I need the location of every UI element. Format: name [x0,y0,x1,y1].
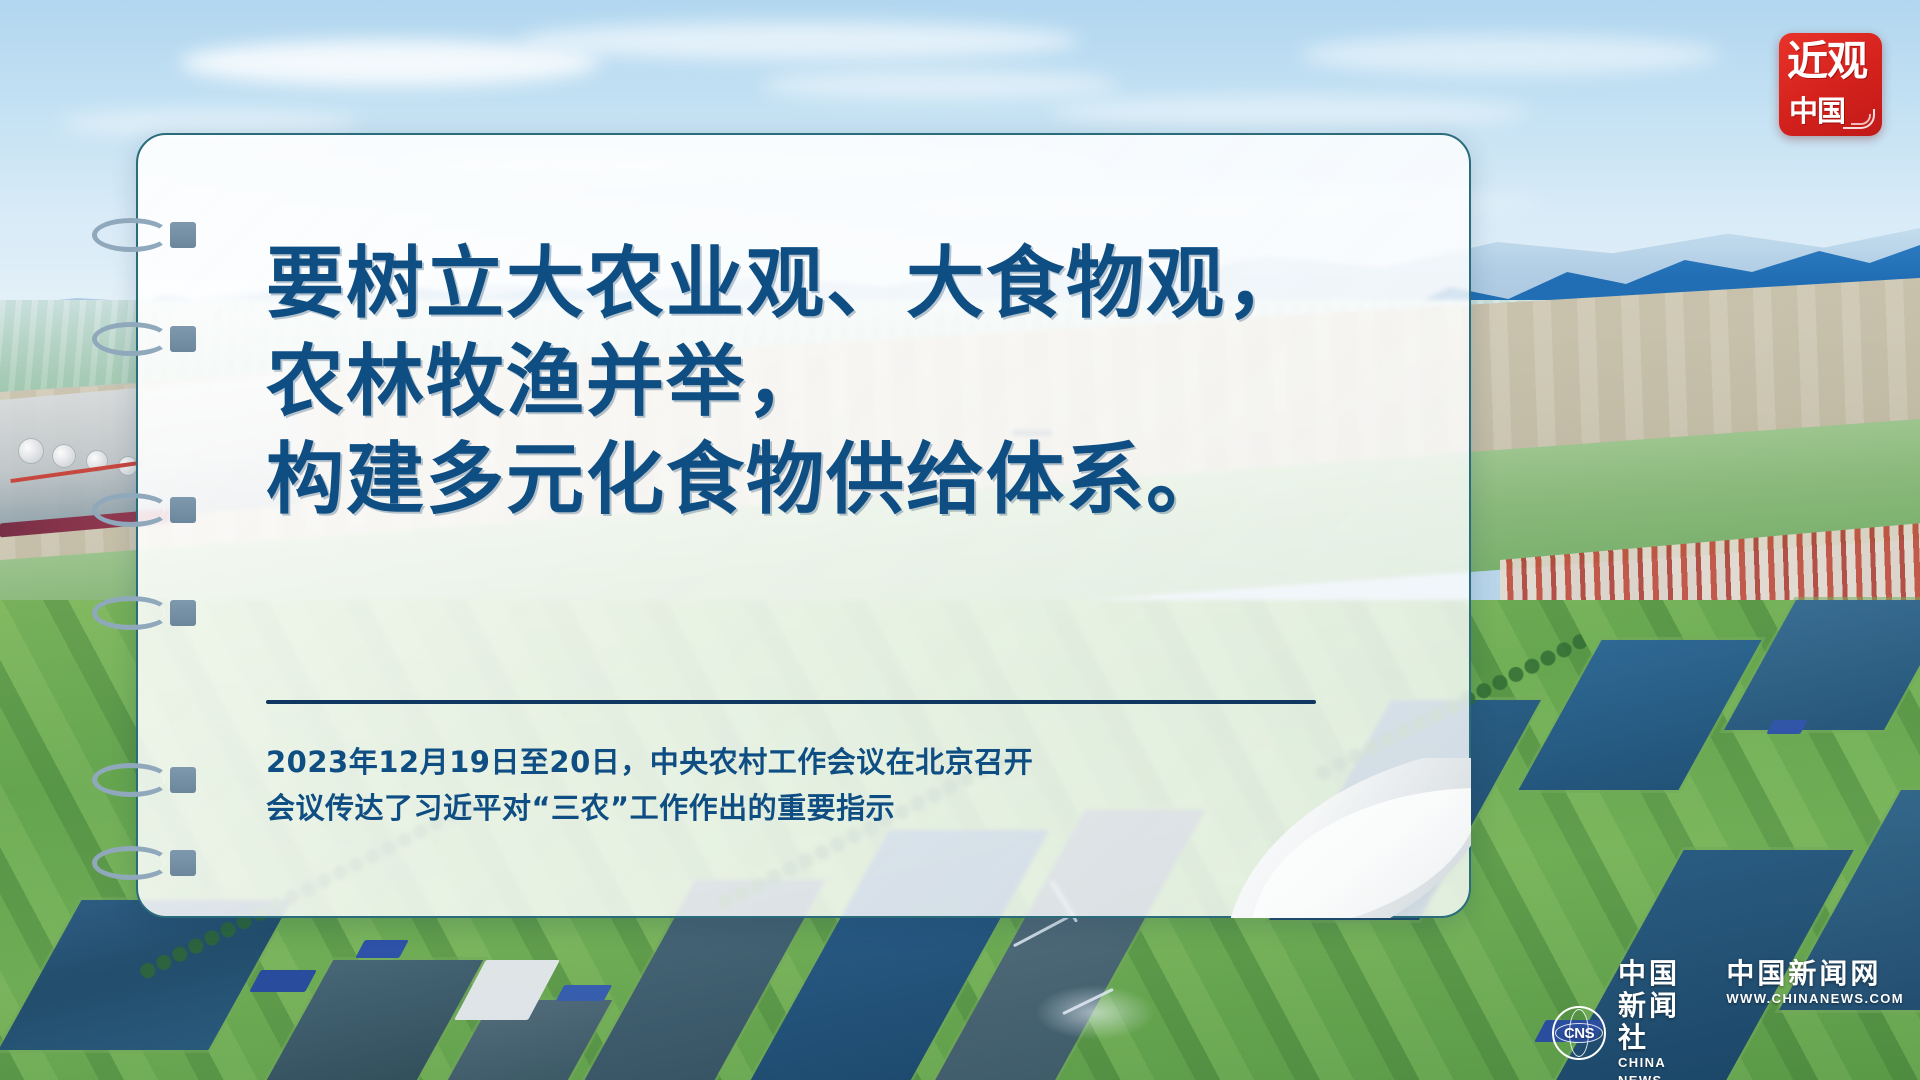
jinguan-zhongguo-logo[interactable]: 近观 中国 [1779,33,1882,136]
agency-name-cn: 中国新闻社 [1618,958,1710,1054]
cns-globe-label: CNS [1564,1025,1594,1042]
cns-globe-icon: CNS [1552,1006,1606,1060]
agency-block: 中国新闻社 CHINA NEWS SERVICE [1618,958,1710,1080]
headline-quote: 要树立大农业观、大食物观， 农林牧渔并举， 构建多元化食物供给体系。 [266,235,1386,529]
site-block: 中国新闻网 WWW.CHINANEWS.COM [1726,958,1904,1080]
watermark-names: 中国新闻社 CHINA NEWS SERVICE 中国新闻网 WWW.CHINA… [1618,958,1904,1080]
quote-card: 要树立大农业观、大食物观， 农林牧渔并举， 构建多元化食物供给体系。 2023年… [136,133,1471,918]
site-url: WWW.CHINANEWS.COM [1726,990,1904,1008]
caption-text: 2023年12月19日至20日，中央农村工作会议在北京召开 会议传达了习近平对“… [266,739,1366,831]
divider-rule [266,700,1316,704]
poster-canvas: 要树立大农业观、大食物观， 农林牧渔并举， 构建多元化食物供给体系。 2023年… [0,0,1920,1080]
logo-top-text: 近观 [1787,39,1867,83]
china-news-service-watermark: CNS 中国新闻社 CHINA NEWS SERVICE 中国新闻网 WWW.C… [1552,1000,1904,1066]
agency-name-en: CHINA NEWS SERVICE [1618,1054,1710,1080]
site-name-cn: 中国新闻网 [1726,958,1904,990]
logo-bottom-text: 中国 [1789,96,1845,126]
